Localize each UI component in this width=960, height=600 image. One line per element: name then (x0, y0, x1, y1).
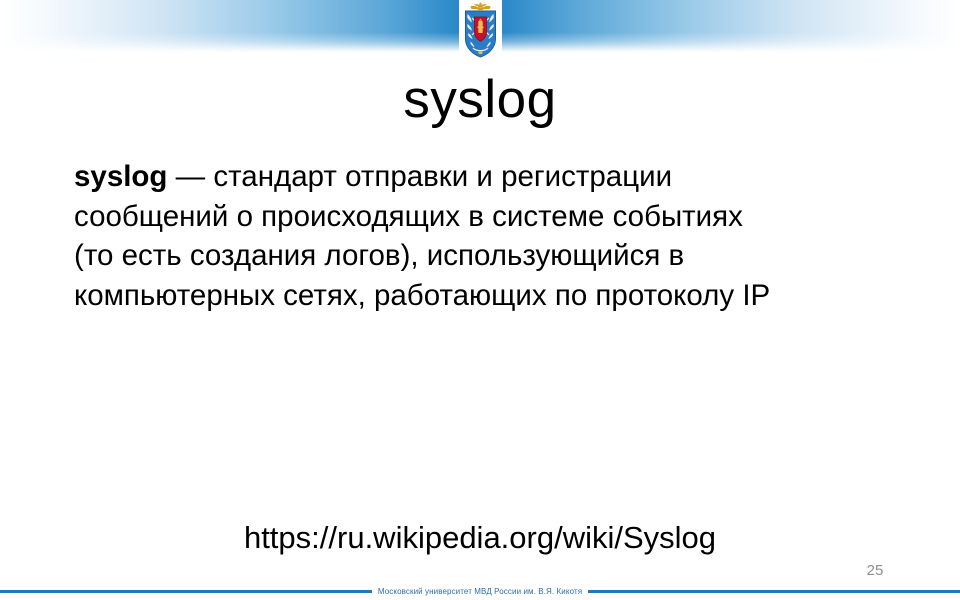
footer: Московский университет МВД России им. В.… (0, 584, 960, 598)
slide: syslog syslog — стандарт отправки и реги… (0, 0, 960, 600)
footer-rule-right (588, 590, 960, 593)
em-dash (167, 160, 175, 193)
body-line-1: syslog — стандарт отправки и регистрации (74, 157, 904, 197)
page-number: 25 (845, 562, 905, 579)
source-url[interactable]: https://ru.wikipedia.org/wiki/Syslog (0, 519, 960, 557)
body-line-4: компьютерных сетях, работающих по проток… (74, 276, 904, 316)
body-line-1-rest: стандарт отправки и регистрации (205, 160, 672, 193)
body-line-3: (то есть создания логов), использующийся… (74, 236, 904, 276)
body-paragraph: syslog — стандарт отправки и регистрации… (74, 157, 904, 315)
footer-rule-left (0, 590, 372, 593)
footer-institution-label: Московский университет МВД России им. В.… (378, 587, 582, 596)
em-dash-glyph: — (176, 160, 206, 193)
page-title: syslog (0, 70, 960, 130)
body-line-2: сообщений о происходящих в системе событ… (74, 197, 904, 237)
coat-of-arms-emblem-icon (461, 1, 500, 58)
lead-term: syslog (74, 160, 167, 193)
